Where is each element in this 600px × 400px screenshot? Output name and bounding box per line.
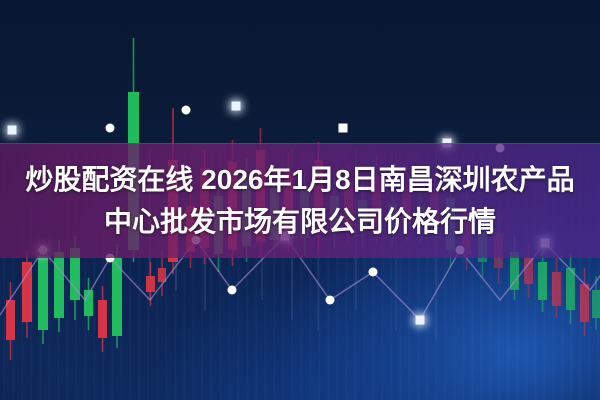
price-quote-banner: 炒股配资在线 2026年1月8日南昌深圳农产品 中心批发市场有限公司价格行情 bbox=[0, 0, 600, 400]
title-line-2: 中心批发市场有限公司价格行情 bbox=[104, 202, 496, 242]
title-block: 炒股配资在线 2026年1月8日南昌深圳农产品 中心批发市场有限公司价格行情 bbox=[0, 143, 600, 258]
title-line-1: 炒股配资在线 2026年1月8日南昌深圳农产品 bbox=[25, 160, 574, 200]
